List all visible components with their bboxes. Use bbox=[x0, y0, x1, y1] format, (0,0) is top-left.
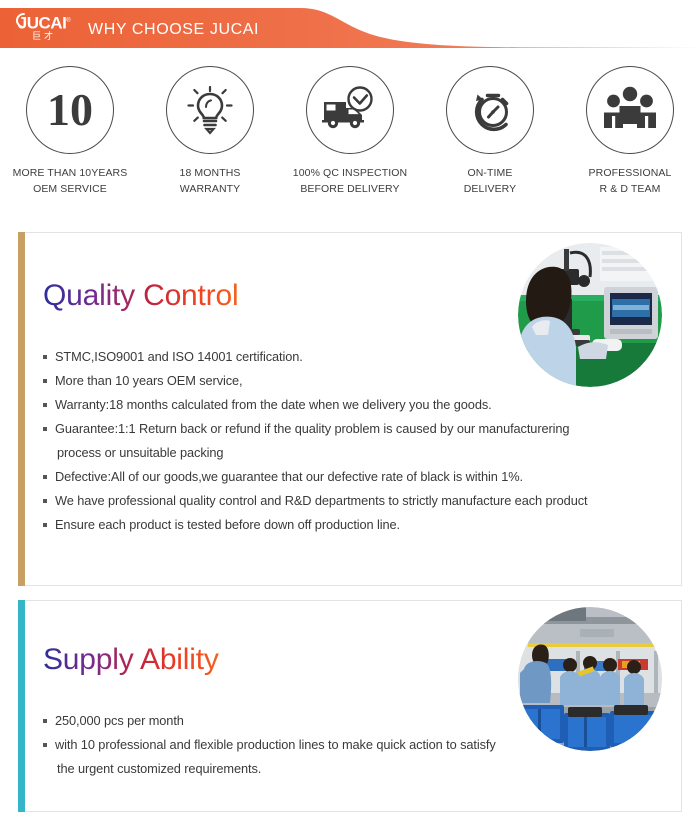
supply-ability-photo bbox=[518, 607, 662, 751]
bullet-text: 250,000 pcs per month bbox=[55, 713, 184, 728]
feature-label-line2: WARRANTY bbox=[180, 181, 241, 197]
bullet-text: Warranty:18 months calculated from the d… bbox=[55, 397, 492, 412]
page-root: JUCAI® 巨才 WHY CHOOSE JUCAI 10 MORE THAN … bbox=[0, 0, 700, 833]
feature-label-line1: PROFESSIONAL bbox=[589, 165, 672, 181]
list-item: Guarantee:1:1 Return back or refund if t… bbox=[43, 417, 663, 441]
header-banner: JUCAI® 巨才 WHY CHOOSE JUCAI bbox=[0, 8, 700, 48]
bullet-text-continuation: the urgent customized requirements. bbox=[57, 761, 261, 776]
feature-item-ontime: ON-TIME DELIVERY bbox=[420, 66, 560, 216]
feature-label: 18 MONTHS WARRANTY bbox=[180, 165, 241, 197]
feature-label: 100% QC INSPECTION BEFORE DELIVERY bbox=[293, 165, 407, 197]
feature-label-line1: MORE THAN 10YEARS bbox=[13, 165, 128, 181]
feature-label: MORE THAN 10YEARS OEM SERVICE bbox=[13, 165, 128, 197]
feature-number: 10 bbox=[47, 87, 93, 133]
bullet-text: More than 10 years OEM service, bbox=[55, 373, 243, 388]
feature-label-line2: OEM SERVICE bbox=[13, 181, 128, 197]
logo-wordmark: JUCAI® bbox=[18, 14, 70, 31]
stopwatch-arrow-icon bbox=[446, 66, 534, 154]
quality-control-title: Quality Control bbox=[43, 279, 238, 313]
feature-label-line1: 18 MONTHS bbox=[180, 165, 241, 181]
bullet-text: with 10 professional and flexible produc… bbox=[55, 737, 496, 752]
feature-item-warranty: 18 MONTHS WARRANTY bbox=[140, 66, 280, 216]
quality-control-photo bbox=[518, 243, 662, 387]
logo-chinese-text: 巨才 bbox=[32, 32, 56, 42]
list-item: Defective:All of our goods,we guarantee … bbox=[43, 465, 663, 489]
bullet-text: Guarantee:1:1 Return back or refund if t… bbox=[55, 421, 569, 436]
team-people-icon bbox=[586, 66, 674, 154]
feature-label-line1: ON-TIME bbox=[464, 165, 517, 181]
number-ten-icon: 10 bbox=[26, 66, 114, 154]
feature-label: ON-TIME DELIVERY bbox=[464, 165, 517, 197]
list-item-continuation: process or unsuitable packing bbox=[43, 441, 663, 465]
delivery-truck-clock-icon bbox=[306, 66, 394, 154]
feature-label-line2: R & D TEAM bbox=[589, 181, 672, 197]
feature-label: PROFESSIONAL R & D TEAM bbox=[589, 165, 672, 197]
list-item-continuation: the urgent customized requirements. bbox=[43, 757, 663, 781]
feature-item-qc: 100% QC INSPECTION BEFORE DELIVERY bbox=[280, 66, 420, 216]
feature-label-line2: BEFORE DELIVERY bbox=[293, 181, 407, 197]
lightbulb-icon bbox=[166, 66, 254, 154]
banner-title: WHY CHOOSE JUCAI bbox=[88, 21, 259, 39]
feature-label-line1: 100% QC INSPECTION bbox=[293, 165, 407, 181]
feature-label-line2: DELIVERY bbox=[464, 181, 517, 197]
list-item: We have professional quality control and… bbox=[43, 489, 663, 513]
supply-ability-title: Supply Ability bbox=[43, 643, 219, 677]
list-item: Ensure each product is tested before dow… bbox=[43, 513, 663, 537]
quality-control-accent-bar bbox=[18, 232, 25, 586]
feature-row: 10 MORE THAN 10YEARS OEM SERVICE 18 MONT… bbox=[0, 66, 700, 216]
bullet-text: We have professional quality control and… bbox=[55, 493, 587, 508]
bullet-text-continuation: process or unsuitable packing bbox=[57, 445, 223, 460]
bullet-text: Ensure each product is tested before dow… bbox=[55, 517, 400, 532]
bullet-text: STMC,ISO9001 and ISO 14001 certification… bbox=[55, 349, 303, 364]
jucai-logo: JUCAI® 巨才 bbox=[8, 10, 80, 46]
list-item: Warranty:18 months calculated from the d… bbox=[43, 393, 663, 417]
feature-item-rd-team: PROFESSIONAL R & D TEAM bbox=[560, 66, 700, 216]
feature-item-years: 10 MORE THAN 10YEARS OEM SERVICE bbox=[0, 66, 140, 216]
supply-ability-accent-bar bbox=[18, 600, 25, 812]
logo-registered-mark: ® bbox=[66, 18, 70, 24]
bullet-text: Defective:All of our goods,we guarantee … bbox=[55, 469, 523, 484]
